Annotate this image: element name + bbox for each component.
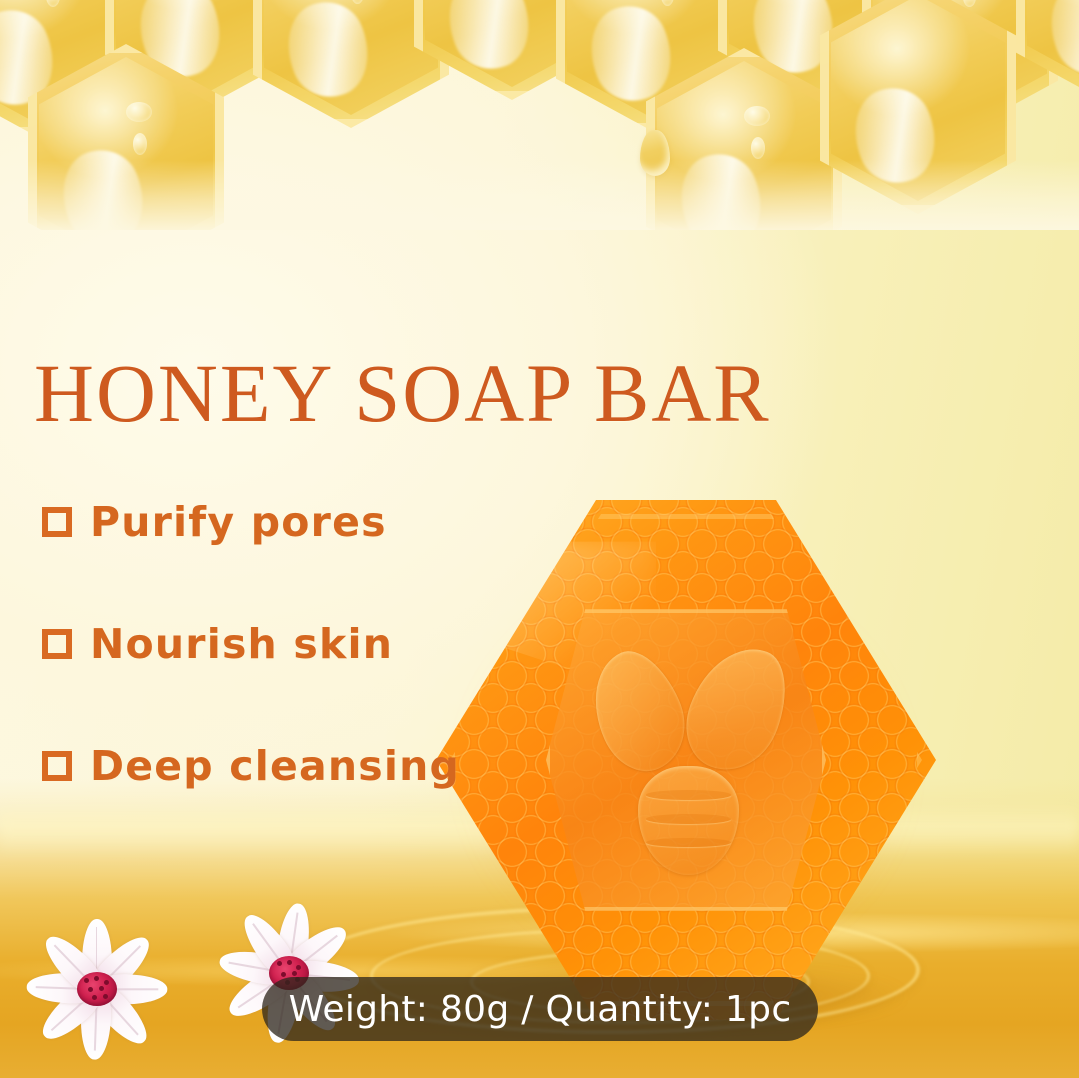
page-title: HONEY SOAP BAR: [34, 352, 771, 435]
feature-label: Purify pores: [90, 498, 387, 546]
checkbox-square-icon: [42, 507, 72, 537]
feature-item: Deep cleansing: [42, 736, 512, 796]
cosmos-flower: [96, 988, 97, 989]
feature-list: Purify pores Nourish skin Deep cleansing: [42, 492, 512, 858]
product-image-canvas: HONEY SOAP BAR Purify pores Nourish skin…: [0, 0, 1079, 1078]
checkbox-square-icon: [42, 751, 72, 781]
spec-badge-text: Weight: 80g / Quantity: 1pc: [289, 989, 792, 1030]
feature-item: Purify pores: [42, 492, 512, 552]
feature-item: Nourish skin: [42, 614, 512, 674]
feature-label: Deep cleansing: [90, 742, 460, 790]
soap-center-panel: [546, 609, 826, 911]
honey-droplet: [640, 130, 670, 176]
checkbox-square-icon: [42, 629, 72, 659]
honeycomb-cell: [820, 0, 1016, 214]
spec-badge: Weight: 80g / Quantity: 1pc: [262, 977, 818, 1041]
cosmos-flower: [288, 972, 289, 973]
flower-center: [77, 972, 117, 1006]
bee-emblem-icon: [546, 609, 826, 911]
honeycomb-top-border: [0, 0, 1079, 230]
feature-label: Nourish skin: [90, 620, 393, 668]
